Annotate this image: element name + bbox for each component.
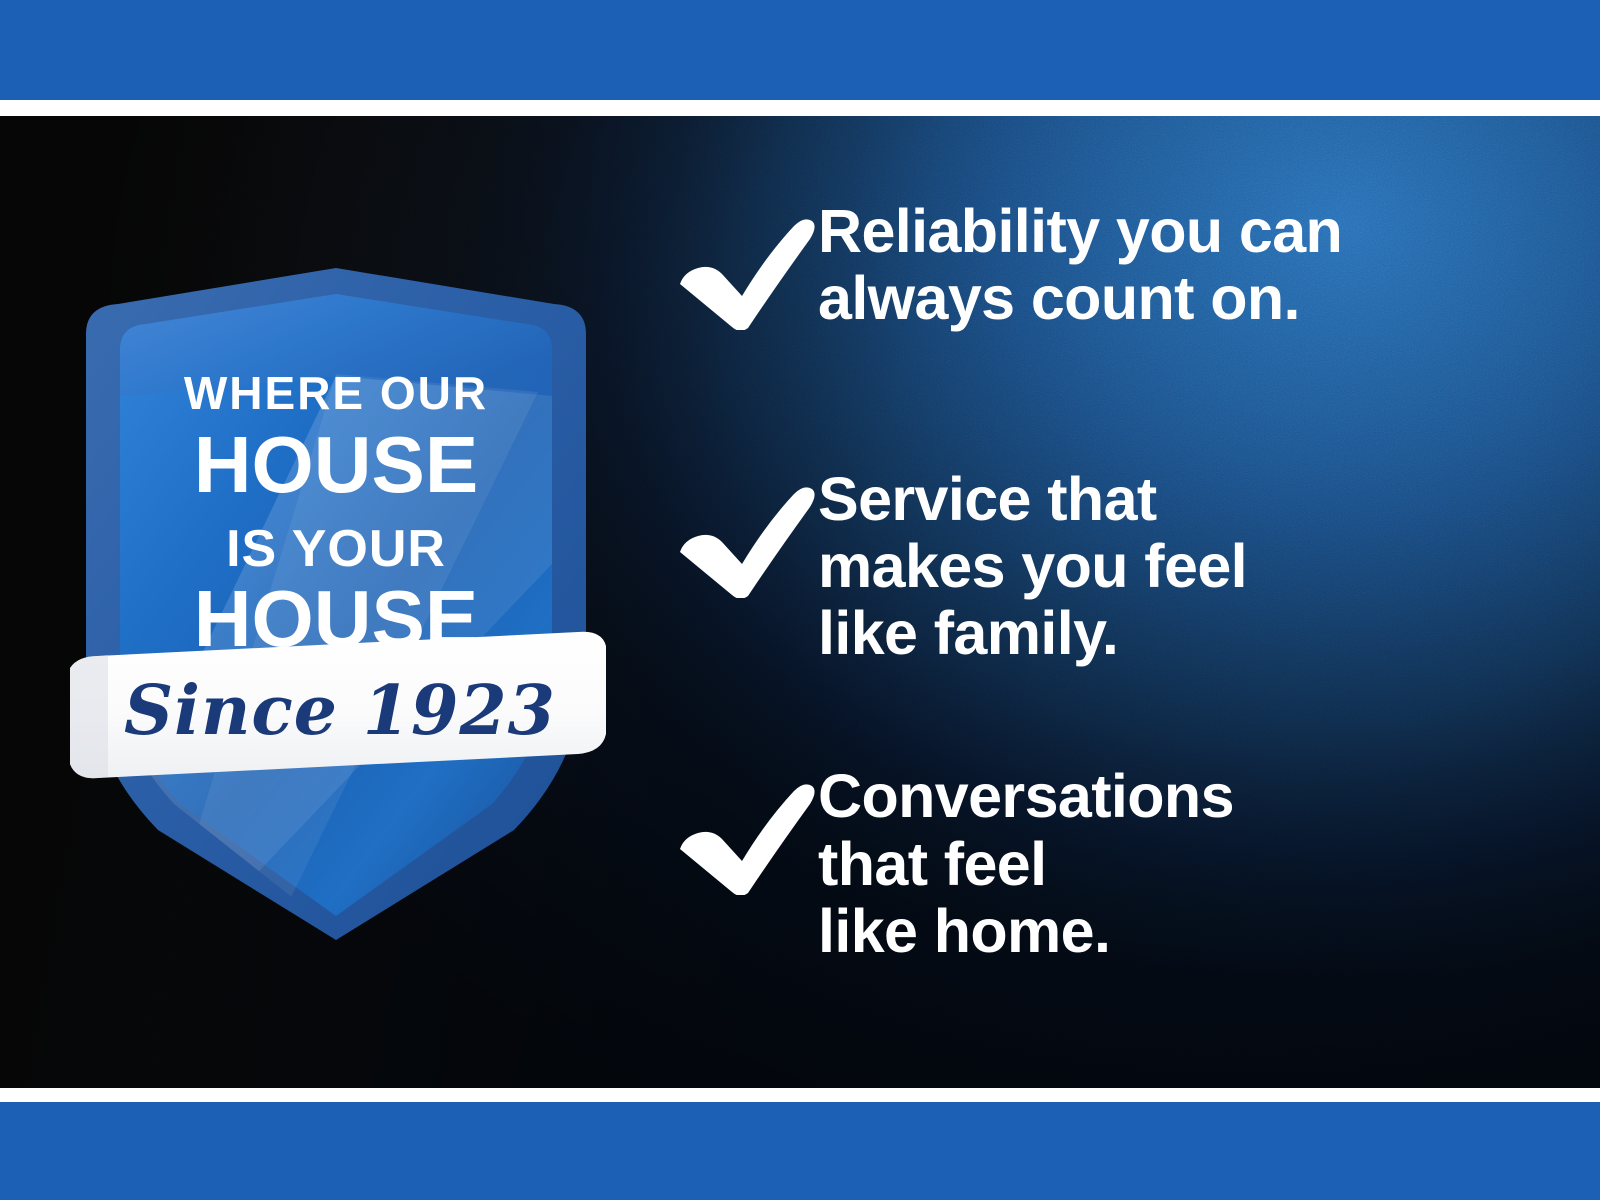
check-icon [668,759,818,895]
main-canvas: WHERE OUR HOUSE IS YOUR HOUSE Since 1923… [0,116,1600,1088]
check-icon [668,462,818,598]
benefit-item-3: Conversations that feel like home. [668,759,1528,964]
top-brand-bar [0,0,1600,100]
benefit-text-3: Conversations that feel like home. [818,759,1234,964]
shield-badge: WHERE OUR HOUSE IS YOUR HOUSE Since 1923 [68,264,608,924]
bottom-white-divider [0,1088,1600,1102]
benefit-item-1: Reliability you can always count on. [668,194,1528,332]
benefits-list: Reliability you can always count on. Ser… [668,194,1528,965]
benefit-text-2: Service that makes you feel like family. [818,462,1247,667]
badge-line-3: IS YOUR [226,520,446,578]
badge-line-2: HOUSE [194,420,479,509]
badge-banner-shadow-left [70,655,108,778]
badge-line-1: WHERE OUR [184,367,488,419]
top-white-divider [0,100,1600,116]
bottom-brand-bar [0,1102,1600,1200]
promo-graphic: WHERE OUR HOUSE IS YOUR HOUSE Since 1923… [0,0,1600,1200]
benefit-item-2: Service that makes you feel like family. [668,462,1528,667]
benefit-text-1: Reliability you can always count on. [818,194,1342,332]
badge-banner-text: Since 1923 [124,671,556,751]
check-icon [668,194,818,330]
